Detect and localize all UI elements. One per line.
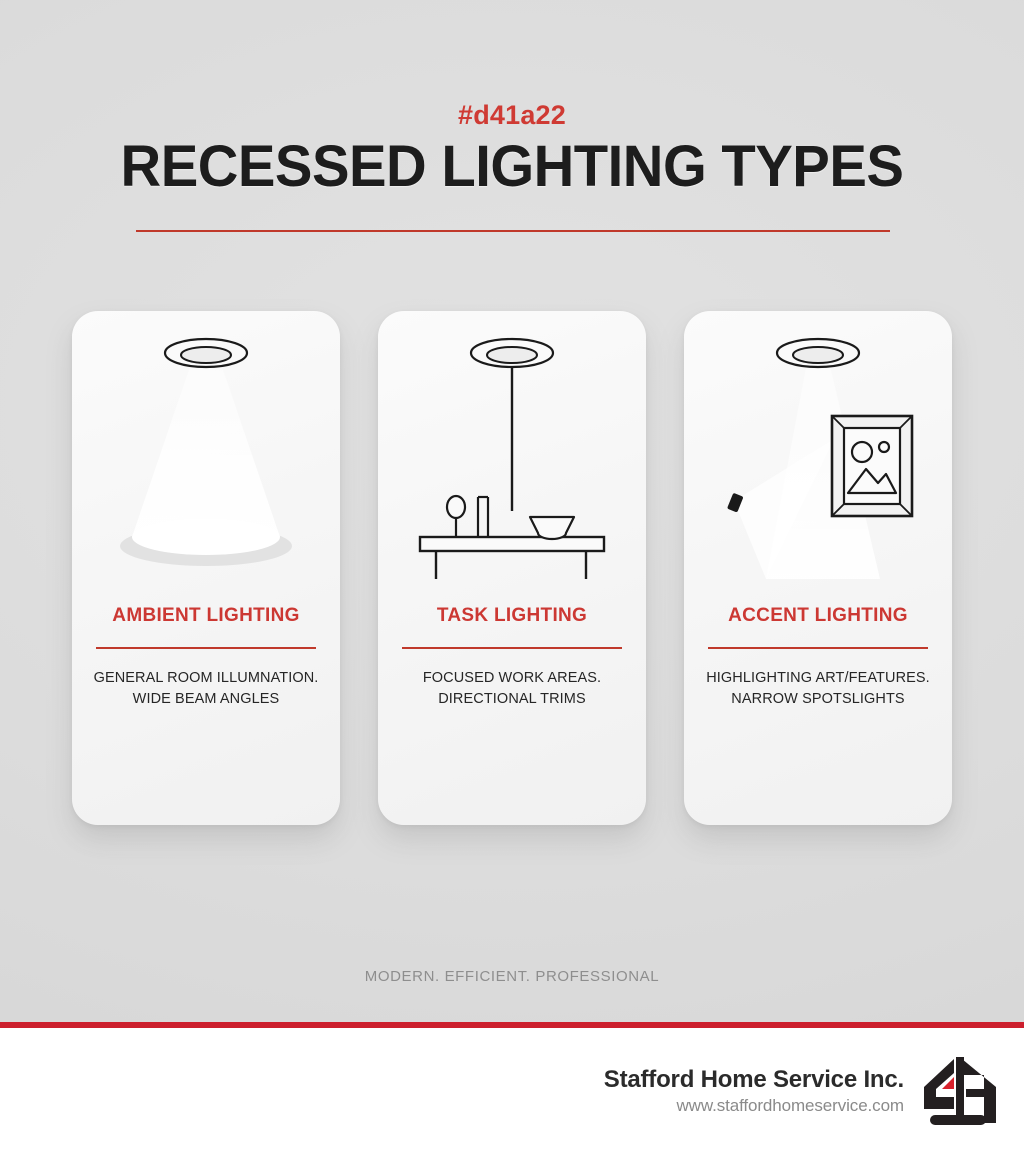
lighting-types-card-row: AMBIENT LIGHTING GENERAL ROOM ILLUMNATIO… — [0, 311, 1024, 825]
card-description-ambient: GENERAL ROOM ILLUMNATION. WIDE BEAM ANGL… — [86, 668, 326, 710]
pendant-over-counter-icon — [378, 311, 646, 601]
card-desc-line-1: FOCUSED WORK AREAS. — [423, 670, 601, 686]
company-website-url[interactable]: www.staffordhomeservice.com — [604, 1096, 904, 1116]
card-desc-line-2: NARROW SPOTSLIGHTS — [731, 691, 904, 707]
card-divider-rule — [708, 647, 928, 649]
card-accent-lighting[interactable]: ACCENT LIGHTING HIGHLIGHTING ART/FEATURE… — [684, 311, 952, 825]
company-name: Stafford Home Service Inc. — [604, 1066, 904, 1094]
card-title-ambient: AMBIENT LIGHTING — [72, 605, 340, 627]
spotlight-on-framed-art-icon — [684, 311, 952, 601]
poster-header: #d41a22 RECESSED LIGHTING TYPES — [0, 0, 1024, 198]
brand-text-block: Stafford Home Service Inc. www.staffordh… — [604, 1066, 904, 1116]
card-desc-line-2: DIRECTIONAL TRIMS — [438, 691, 586, 707]
page-title: RECESSED LIGHTING TYPES — [15, 137, 1008, 198]
card-title-task: TASK LIGHTING — [378, 605, 646, 627]
card-task-lighting[interactable]: TASK LIGHTING FOCUSED WORK AREAS. DIRECT… — [378, 311, 646, 825]
card-ambient-lighting[interactable]: AMBIENT LIGHTING GENERAL ROOM ILLUMNATIO… — [72, 311, 340, 825]
card-description-task: FOCUSED WORK AREAS. DIRECTIONAL TRIMS — [392, 668, 632, 710]
card-desc-line-2: WIDE BEAM ANGLES — [133, 691, 280, 707]
infographic-poster: #d41a22 RECESSED LIGHTING TYPES — [0, 0, 1024, 1154]
card-divider-rule — [96, 647, 316, 649]
accent-color-code-label: #d41a22 — [0, 100, 1024, 131]
stafford-house-logo — [920, 1053, 1000, 1129]
recessed-downlight-wide-beam-icon — [72, 311, 340, 601]
card-divider-rule — [402, 647, 622, 649]
card-desc-line-1: HIGHLIGHTING ART/FEATURES. — [706, 670, 930, 686]
footer-branding-bar: Stafford Home Service Inc. www.staffordh… — [0, 1028, 1024, 1154]
header-divider-rule — [136, 230, 890, 232]
card-description-accent: HIGHLIGHTING ART/FEATURES. NARROW SPOTSL… — [698, 668, 938, 710]
tagline: MODERN. EFFICIENT. PROFESSIONAL — [0, 968, 1024, 985]
card-title-accent: ACCENT LIGHTING — [684, 605, 952, 627]
card-desc-line-1: GENERAL ROOM ILLUMNATION. — [94, 670, 319, 686]
